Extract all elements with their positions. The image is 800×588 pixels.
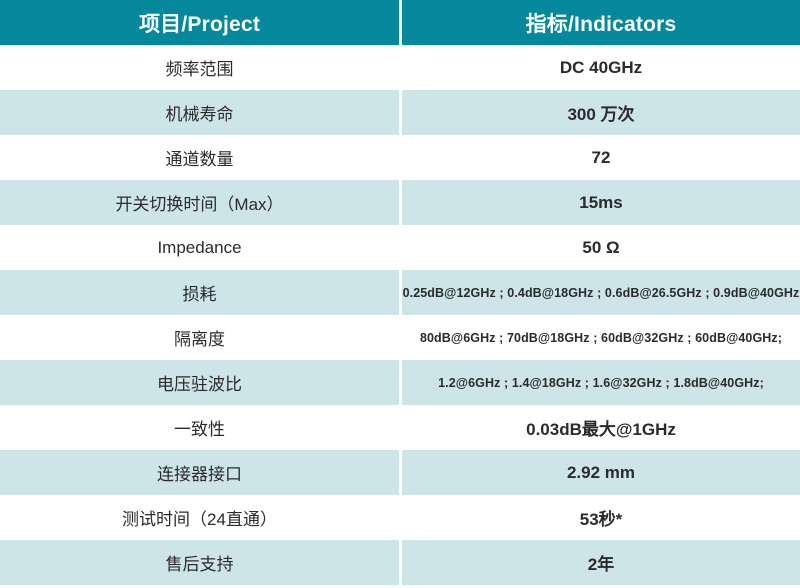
cell-project: 测试时间（24直通） <box>0 495 399 540</box>
table-row: 隔离度80dB@6GHz ; 70dB@18GHz ; 60dB@32GHz ;… <box>0 315 800 360</box>
table-row: 测试时间（24直通）53秒* <box>0 495 800 540</box>
cell-indicator: 72 <box>402 135 800 180</box>
table-body: 频率范围DC 40GHz机械寿命300 万次通道数量72开关切换时间（Max）1… <box>0 45 800 585</box>
cell-project: 电压驻波比 <box>0 360 399 405</box>
specification-table: 项目/Project 指标/Indicators 频率范围DC 40GHz机械寿… <box>0 0 800 588</box>
table-row: 连接器接口2.92 mm <box>0 450 800 495</box>
cell-project: 售后支持 <box>0 540 399 585</box>
cell-project: 隔离度 <box>0 315 399 360</box>
cell-indicator: DC 40GHz <box>402 45 800 90</box>
cell-project: 机械寿命 <box>0 90 399 135</box>
cell-project: 连接器接口 <box>0 450 399 495</box>
header-cell-project: 项目/Project <box>0 0 399 45</box>
table-row: 频率范围DC 40GHz <box>0 45 800 90</box>
cell-indicator: 2年 <box>402 540 800 585</box>
table-row: Impedance50 Ω <box>0 225 800 270</box>
cell-project: 通道数量 <box>0 135 399 180</box>
table-row: 电压驻波比1.2@6GHz ; 1.4@18GHz ; 1.6@32GHz ; … <box>0 360 800 405</box>
cell-indicator: 0.25dB@12GHz ; 0.4dB@18GHz ; 0.6dB@26.5G… <box>402 270 800 315</box>
cell-indicator: 1.2@6GHz ; 1.4@18GHz ; 1.6@32GHz ; 1.8dB… <box>402 360 800 405</box>
cell-indicator: 2.92 mm <box>402 450 800 495</box>
cell-indicator: 50 Ω <box>402 225 800 270</box>
table-row: 开关切换时间（Max）15ms <box>0 180 800 225</box>
table-row: 通道数量72 <box>0 135 800 180</box>
table-row: 损耗0.25dB@12GHz ; 0.4dB@18GHz ; 0.6dB@26.… <box>0 270 800 315</box>
table-header-row: 项目/Project 指标/Indicators <box>0 0 800 45</box>
table-row: 机械寿命300 万次 <box>0 90 800 135</box>
cell-indicator: 300 万次 <box>402 90 800 135</box>
cell-project: Impedance <box>0 225 399 270</box>
cell-project: 开关切换时间（Max） <box>0 180 399 225</box>
cell-project: 频率范围 <box>0 45 399 90</box>
cell-indicator: 0.03dB最大@1GHz <box>402 405 800 450</box>
table-row: 售后支持2年 <box>0 540 800 585</box>
cell-indicator: 80dB@6GHz ; 70dB@18GHz ; 60dB@32GHz ; 60… <box>402 315 800 360</box>
cell-indicator: 53秒* <box>402 495 800 540</box>
cell-project: 一致性 <box>0 405 399 450</box>
header-cell-indicators: 指标/Indicators <box>402 0 800 45</box>
table-row: 一致性0.03dB最大@1GHz <box>0 405 800 450</box>
cell-indicator: 15ms <box>402 180 800 225</box>
cell-project: 损耗 <box>0 270 399 315</box>
